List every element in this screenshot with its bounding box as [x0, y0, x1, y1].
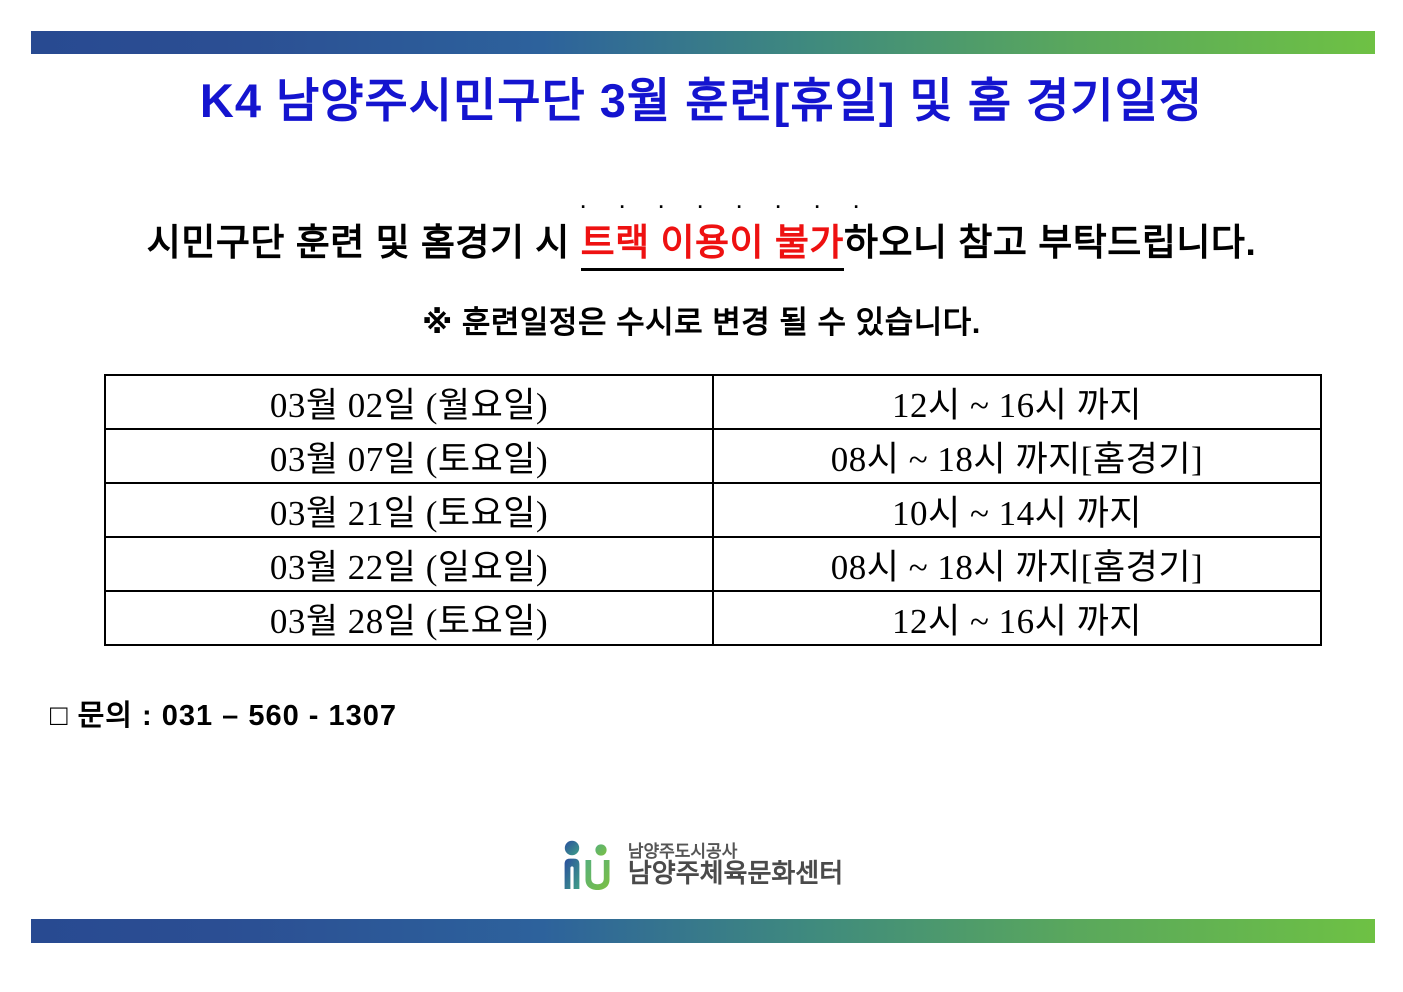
schedule-time: 08시 ~ 18시 까지[홈경기] — [713, 537, 1321, 591]
table-row: 03월 02일 (월요일) 12시 ~ 16시 까지 — [105, 375, 1321, 429]
footer-logo: 남양주도시공사 남양주체육문화센터 — [0, 838, 1403, 892]
footer-logo-text: 남양주도시공사 남양주체육문화센터 — [628, 843, 843, 887]
schedule-time: 10시 ~ 14시 까지 — [713, 483, 1321, 537]
emphasis-dots: · · · · · · · · — [581, 198, 844, 216]
table-row: 03월 22일 (일요일) 08시 ~ 18시 까지[홈경기] — [105, 537, 1321, 591]
table-row: 03월 07일 (토요일) 08시 ~ 18시 까지[홈경기] — [105, 429, 1321, 483]
emphasis-text: 트랙 이용이 불가 — [581, 222, 844, 263]
schedule-time: 12시 ~ 16시 까지 — [713, 375, 1321, 429]
schedule-table: 03월 02일 (월요일) 12시 ~ 16시 까지 03월 07일 (토요일)… — [104, 374, 1322, 646]
notice-emphasis: · · · · · · · ·트랙 이용이 불가 — [581, 212, 844, 271]
notice-prefix: 시민구단 훈련 및 홈경기 시 — [147, 222, 581, 263]
schedule-date: 03월 22일 (일요일) — [105, 537, 713, 591]
namyangju-logo-icon — [560, 838, 616, 892]
schedule-table-body: 03월 02일 (월요일) 12시 ~ 16시 까지 03월 07일 (토요일)… — [105, 375, 1321, 645]
primary-notice: 시민구단 훈련 및 홈경기 시 · · · · · · · ·트랙 이용이 불가… — [0, 212, 1403, 271]
org-name-large: 남양주체육문화센터 — [628, 860, 843, 887]
contact-line: □ 문의 : 031 – 560 - 1307 — [50, 692, 397, 734]
table-row: 03월 21일 (토요일) 10시 ~ 14시 까지 — [105, 483, 1321, 537]
announcement-page: K4 남양주시민구단 3월 훈련[휴일] 및 홈 경기일정 시민구단 훈련 및 … — [0, 0, 1403, 992]
schedule-date: 03월 28일 (토요일) — [105, 591, 713, 645]
table-row: 03월 28일 (토요일) 12시 ~ 16시 까지 — [105, 591, 1321, 645]
schedule-date: 03월 02일 (월요일) — [105, 375, 713, 429]
notice-suffix: 하오니 참고 부탁드립니다. — [844, 222, 1256, 263]
secondary-notice: ※ 훈련일정은 수시로 변경 될 수 있습니다. — [0, 297, 1403, 342]
schedule-date: 03월 21일 (토요일) — [105, 483, 713, 537]
page-title: K4 남양주시민구단 3월 훈련[휴일] 및 홈 경기일정 — [0, 62, 1403, 131]
schedule-time: 12시 ~ 16시 까지 — [713, 591, 1321, 645]
bottom-gradient-bar — [31, 919, 1375, 943]
schedule-time: 08시 ~ 18시 까지[홈경기] — [713, 429, 1321, 483]
schedule-date: 03월 07일 (토요일) — [105, 429, 713, 483]
schedule-table-wrapper: 03월 02일 (월요일) 12시 ~ 16시 까지 03월 07일 (토요일)… — [104, 374, 1300, 646]
top-gradient-bar — [31, 31, 1375, 54]
